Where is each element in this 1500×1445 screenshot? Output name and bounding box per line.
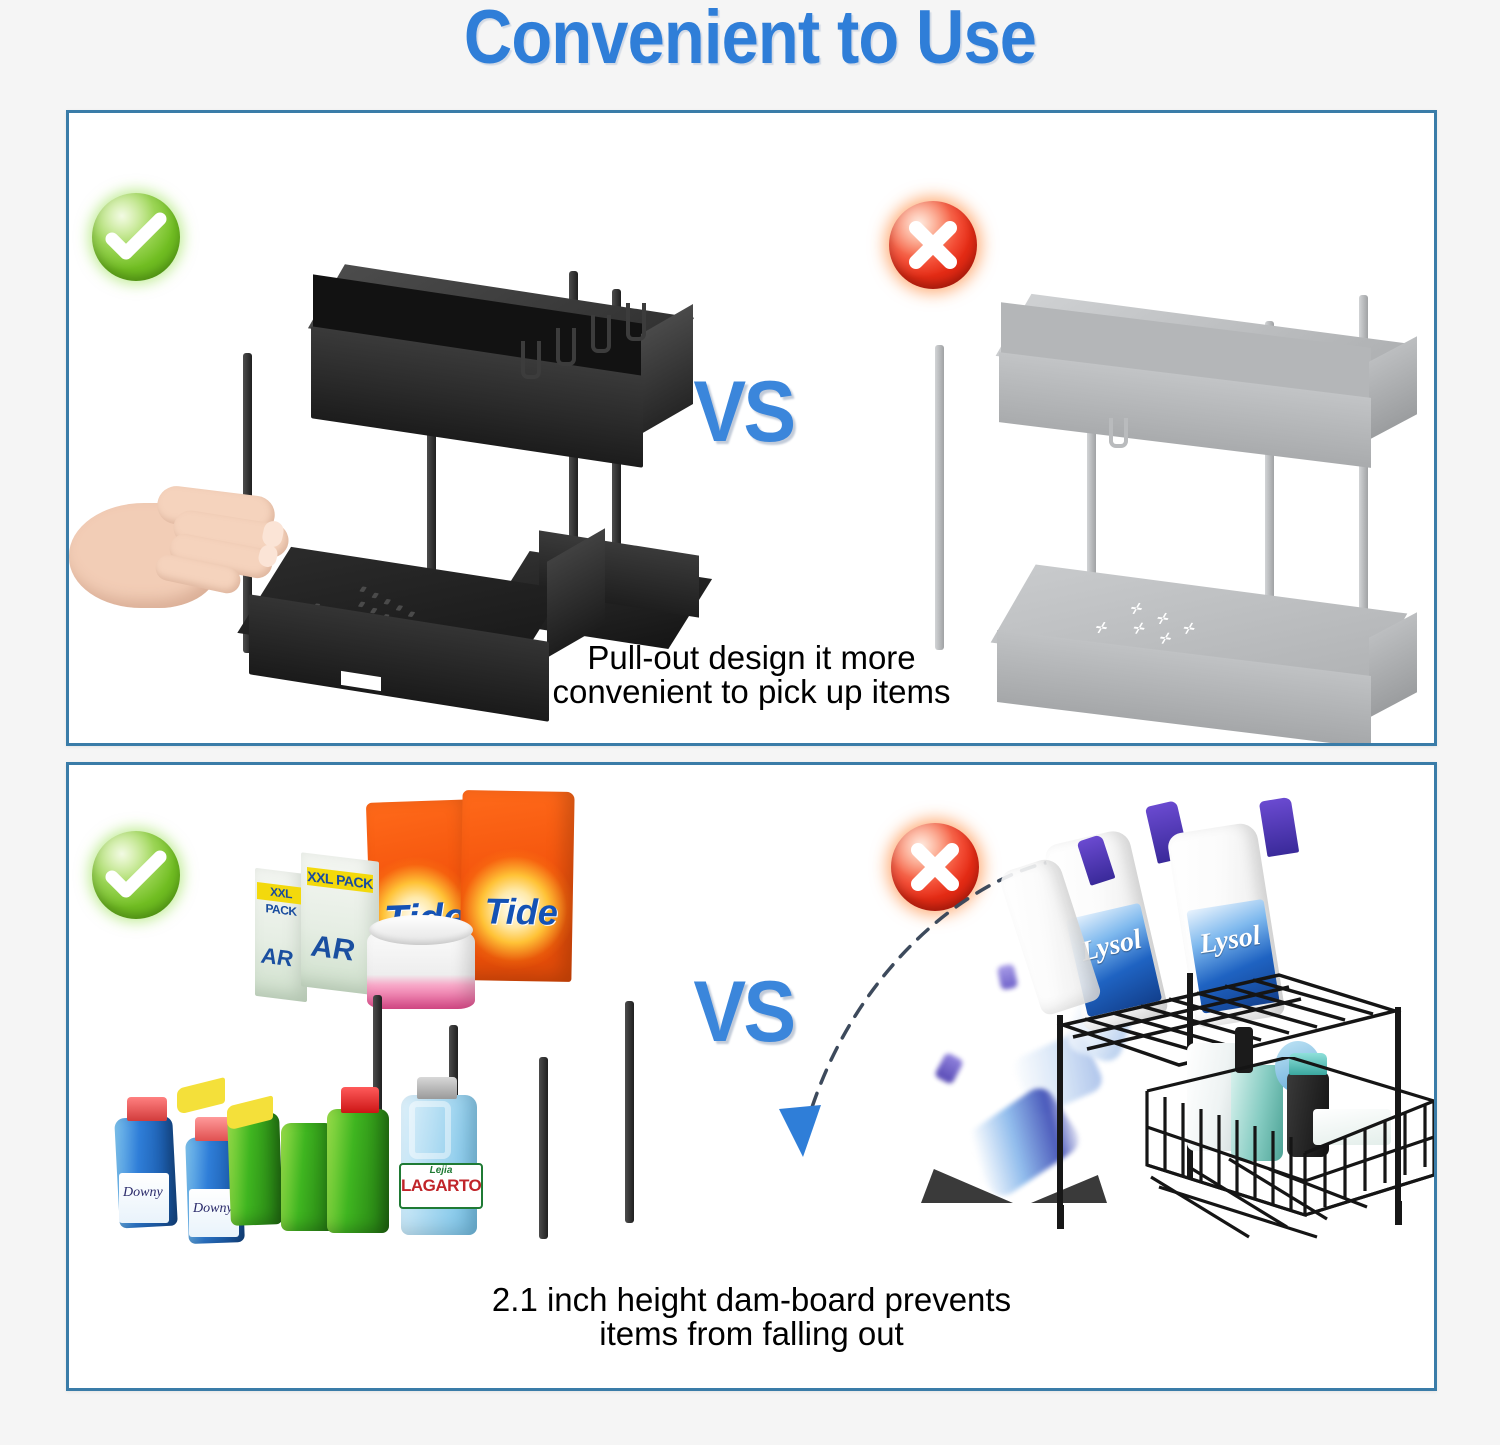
lagarto-label: Lejia LAGARTO: [399, 1163, 483, 1209]
lagarto-text: LAGARTO: [401, 1177, 481, 1194]
green-detergent-jug: [327, 1109, 389, 1233]
side-hook-icon: [591, 315, 611, 353]
rack-foot: [1057, 1205, 1064, 1229]
check-icon: [92, 193, 180, 281]
shelf-leg: [935, 345, 944, 650]
tide-brand-label: Tide: [484, 890, 558, 933]
ariel-detergent-box: XXL PACK AR: [255, 868, 307, 1002]
side-hook-icon: [626, 303, 646, 341]
tub-lid: [369, 915, 473, 945]
page-title: Convenient to Use: [90, 0, 1410, 81]
ariel-brand-label: AR: [311, 929, 354, 968]
lysol-neck: [1259, 797, 1299, 857]
xxl-pack-label: XXL PACK: [307, 867, 373, 893]
xxl-pack-label: XXL PACK: [257, 882, 305, 905]
comparison-panel-pullout: VS ✛ ✛ ✛ ✛ ✛ ✛: [66, 110, 1437, 746]
check-icon: [92, 831, 180, 919]
bottle-cap: [341, 1087, 379, 1113]
side-hook-icon: [556, 328, 576, 366]
vs-label: VS: [693, 363, 793, 462]
bottle-cap: [417, 1077, 457, 1099]
panel-2-caption-line1: 2.1 inch height dam-board prevents: [69, 1283, 1434, 1318]
check-badge: [92, 831, 180, 919]
rack-foot: [1395, 1201, 1402, 1225]
cross-badge: [889, 201, 977, 289]
infographic-page: Convenient to Use: [0, 0, 1500, 1445]
wire-sliding-basket[interactable]: [1129, 1057, 1437, 1247]
side-hook-icon: [521, 341, 541, 379]
downy-brand-label: Downy: [123, 1185, 163, 1201]
rack-post: [1057, 1015, 1063, 1215]
bottle-cap: [127, 1097, 167, 1121]
panel-2-caption-line2: items from falling out: [69, 1317, 1434, 1352]
organizer-leg: [539, 1057, 548, 1239]
cross-icon: [889, 201, 977, 289]
side-hook-icon: [1109, 418, 1128, 448]
ariel-brand-label: AR: [261, 943, 293, 973]
check-badge: [92, 193, 180, 281]
tide-detergent-bag: Tide: [459, 790, 574, 982]
green-spray-bottle: [227, 1112, 283, 1226]
downy-brand-label: Downy: [193, 1201, 233, 1217]
spray-trigger: [177, 1077, 225, 1115]
panel-1-caption-line2: convenient to pick up items: [69, 675, 1434, 710]
comparison-panel-damboard: Tide Tide XXL PACK AR XXL PACK AR: [66, 762, 1437, 1391]
panel-1-caption-line1: Pull-out design it more: [69, 641, 1434, 676]
organizer-leg: [625, 1001, 634, 1223]
